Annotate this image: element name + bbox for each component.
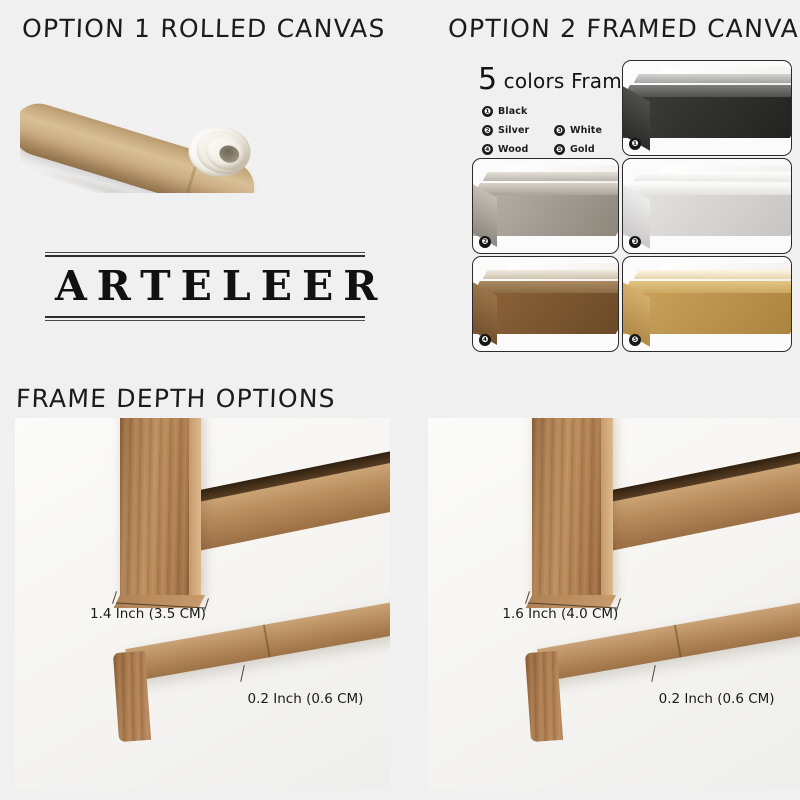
legend-label: Wood — [498, 144, 528, 155]
framing-colors-panel: 5 colors Framing ❶ Black ❷ Silver ❸ Whit… — [470, 58, 792, 358]
frame-inner-lip — [482, 270, 619, 279]
frame-swatch-silver[interactable]: ❷ — [472, 158, 619, 254]
dimension-tick — [651, 665, 656, 682]
brand-name: ARTELEER — [45, 257, 365, 316]
number-badge-icon: ❺ — [554, 144, 565, 155]
canvas-edge-strip-end — [113, 651, 151, 742]
frame-depth-label: 1.6 Inch (4.0 CM) — [502, 606, 618, 622]
frame-inner-lip — [634, 270, 792, 279]
frame-swatch-wood[interactable]: ❹ — [472, 256, 619, 352]
legend-item-wood: ❹ Wood — [482, 144, 554, 155]
frame-inner-lip — [634, 74, 792, 83]
legend-label: White — [570, 125, 602, 136]
legend-item-gold: ❺ Gold — [554, 144, 626, 155]
number-badge-icon: ❷ — [482, 125, 493, 136]
section-heading-option-1: OPTION 1 ROLLED CANVAS — [21, 14, 386, 43]
frame-corner-render — [623, 159, 791, 253]
legend-row: ❶ Black — [482, 106, 632, 117]
frame-inner-lip — [482, 172, 619, 181]
frame-swatch-black[interactable]: ❶ — [622, 60, 792, 156]
legend-label: Black — [498, 106, 527, 117]
section-heading-frame-depth: FRAME DEPTH OPTIONS — [15, 384, 336, 413]
rolled-canvas-photo — [20, 58, 320, 193]
brand-rule-bottom — [45, 316, 365, 321]
framing-legend: ❶ Black ❷ Silver ❸ White ❹ Wood — [482, 106, 632, 163]
frame-swatch-white[interactable]: ❸ — [622, 158, 792, 254]
frame-depth-photo-left: 1.4 Inch (3.5 CM) 0.2 Inch (0.6 CM) — [15, 418, 390, 790]
number-badge-icon: ❷ — [479, 236, 491, 248]
frame-swatch-gold[interactable]: ❺ — [622, 256, 792, 352]
number-badge-icon: ❸ — [629, 236, 641, 248]
number-badge-icon: ❶ — [629, 138, 641, 150]
frame-corner-render — [623, 61, 791, 155]
frame-corner-render — [473, 159, 618, 253]
frame-corner-render — [473, 257, 618, 351]
canvas-depth-label: 0.2 Inch (0.6 CM) — [659, 691, 775, 707]
frame-depth-photo-right: 1.6 Inch (4.0 CM) 0.2 Inch (0.6 CM) — [428, 418, 800, 790]
frame-post-bevel — [189, 418, 201, 597]
legend-item-white: ❸ White — [554, 125, 626, 136]
brand-logo: ARTELEER — [45, 252, 365, 321]
frame-depth-label: 1.4 Inch (3.5 CM) — [90, 606, 206, 622]
frame-post-bevel — [601, 418, 613, 597]
frame-corner-render — [623, 257, 791, 351]
section-heading-option-2: OPTION 2 FRAMED CANVAS — [447, 14, 800, 43]
number-badge-icon: ❹ — [482, 144, 493, 155]
frame-post — [532, 418, 610, 597]
number-badge-icon: ❶ — [482, 106, 493, 117]
legend-label: Silver — [498, 125, 529, 136]
framing-color-count: 5 — [478, 62, 497, 97]
dimension-tick — [240, 665, 245, 682]
legend-item-black: ❶ Black — [482, 106, 554, 117]
canvas-depth-label: 0.2 Inch (0.6 CM) — [248, 691, 364, 707]
canvas-edge-strip-end — [525, 651, 563, 742]
legend-label: Gold — [570, 144, 595, 155]
legend-row: ❹ Wood ❺ Gold — [482, 144, 632, 155]
number-badge-icon: ❸ — [554, 125, 565, 136]
legend-item-silver: ❷ Silver — [482, 125, 554, 136]
infographic-page: OPTION 1 ROLLED CANVAS OPTION 2 FRAMED C… — [0, 0, 800, 800]
number-badge-icon: ❺ — [629, 334, 641, 346]
number-badge-icon: ❹ — [479, 334, 491, 346]
legend-row: ❷ Silver ❸ White — [482, 125, 632, 136]
frame-inner-lip — [634, 172, 792, 181]
frame-post — [120, 418, 199, 597]
